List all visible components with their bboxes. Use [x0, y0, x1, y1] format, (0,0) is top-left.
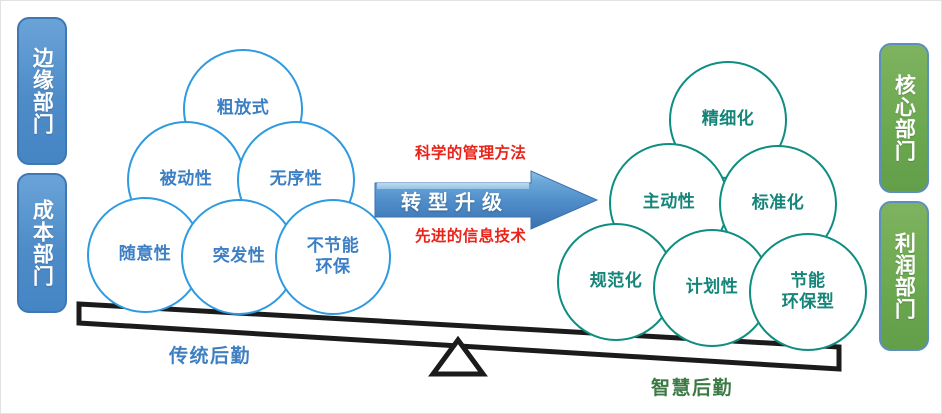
arrow-note-bottom: 先进的信息技术 — [415, 224, 526, 246]
arrow-note-top: 科学的管理方法 — [415, 141, 526, 163]
transformation-arrow: 转型升级 — [373, 169, 599, 231]
diagram-canvas: 边缘部门 成本部门 核心部门 利润部门 粗放式 被动性 无序性 随意性 突发性 … — [0, 0, 942, 414]
seesaw-fulcrum — [433, 340, 483, 374]
dept-tag-core: 核心部门 — [879, 43, 929, 193]
bubble-right-bot-3: 节能 环保型 — [749, 233, 867, 351]
caption-traditional-logistics: 传统后勤 — [169, 341, 251, 368]
dept-tag-marginal: 边缘部门 — [17, 17, 67, 165]
dept-tag-cost: 成本部门 — [17, 173, 67, 313]
arrow-label: 转型升级 — [373, 169, 599, 231]
caption-smart-logistics: 智慧后勤 — [651, 373, 733, 400]
dept-tag-profit: 利润部门 — [879, 201, 929, 351]
